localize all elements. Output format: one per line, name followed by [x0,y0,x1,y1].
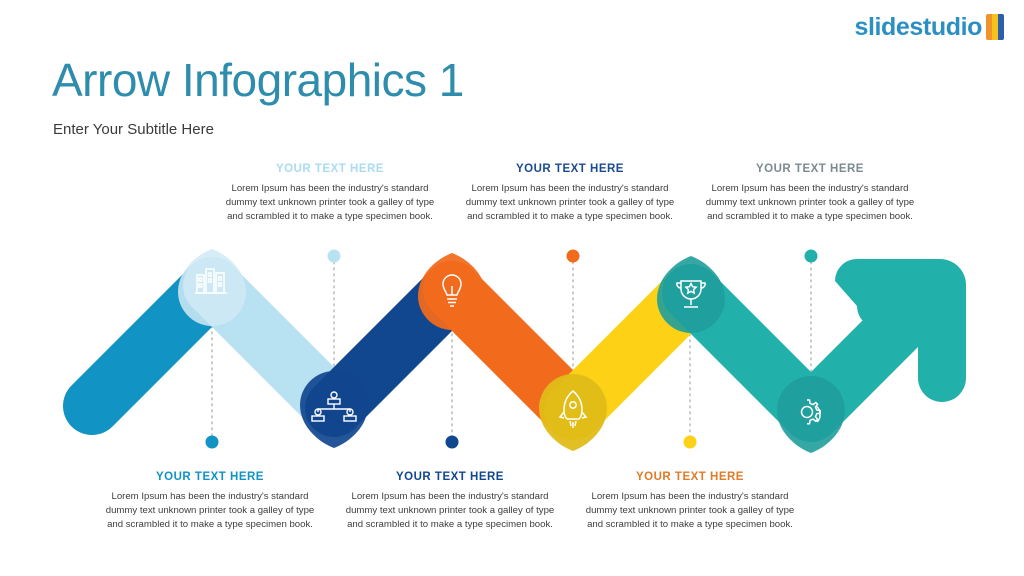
dot-top-2 [567,250,580,263]
dot-bottom-2 [446,436,459,449]
step-badge-building[interactable] [178,249,246,326]
text-block-heading: YOUR TEXT HERE [210,163,450,177]
text-block-heading: YOUR TEXT HERE [450,163,690,177]
text-block-heading: YOUR TEXT HERE [570,471,810,485]
dot-top-3 [805,250,818,263]
page-subtitle: Enter Your Subtitle Here [53,122,214,137]
text-block-body: Lorem Ipsum has been the industry's stan… [450,182,690,225]
dot-top-1 [328,250,341,263]
text-block-bottom-2: YOUR TEXT HERE Lorem Ipsum has been the … [330,471,570,532]
brand-name: slidestudio [854,15,982,40]
step-badge-trophy[interactable] [657,256,725,333]
brand-logo: slidestudio [854,14,1006,40]
dot-bottom-3 [684,436,697,449]
text-block-body: Lorem Ipsum has been the industry's stan… [690,182,930,225]
page-title: Arrow Infographics 1 [52,57,464,103]
step-badge-rocket[interactable] [539,374,607,451]
text-block-body: Lorem Ipsum has been the industry's stan… [90,490,330,533]
text-block-top-2: YOUR TEXT HERE Lorem Ipsum has been the … [450,163,690,224]
step-badge-org-chart[interactable] [300,371,368,448]
text-block-top-3: YOUR TEXT HERE Lorem Ipsum has been the … [690,163,930,224]
brand-mark-icon [986,14,1006,40]
slide-canvas: slidestudio Arrow Infographics 1 Enter Y… [0,0,1024,576]
step-badge-lightbulb[interactable] [418,253,486,330]
text-block-heading: YOUR TEXT HERE [90,471,330,485]
text-block-bottom-3: YOUR TEXT HERE Lorem Ipsum has been the … [570,471,810,532]
step-badge-gear[interactable] [777,376,845,453]
text-block-body: Lorem Ipsum has been the industry's stan… [570,490,810,533]
text-block-top-1: YOUR TEXT HERE Lorem Ipsum has been the … [210,163,450,224]
dot-bottom-1 [206,436,219,449]
text-block-body: Lorem Ipsum has been the industry's stan… [330,490,570,533]
text-block-heading: YOUR TEXT HERE [690,163,930,177]
text-block-body: Lorem Ipsum has been the industry's stan… [210,182,450,225]
text-block-heading: YOUR TEXT HERE [330,471,570,485]
text-block-bottom-1: YOUR TEXT HERE Lorem Ipsum has been the … [90,471,330,532]
